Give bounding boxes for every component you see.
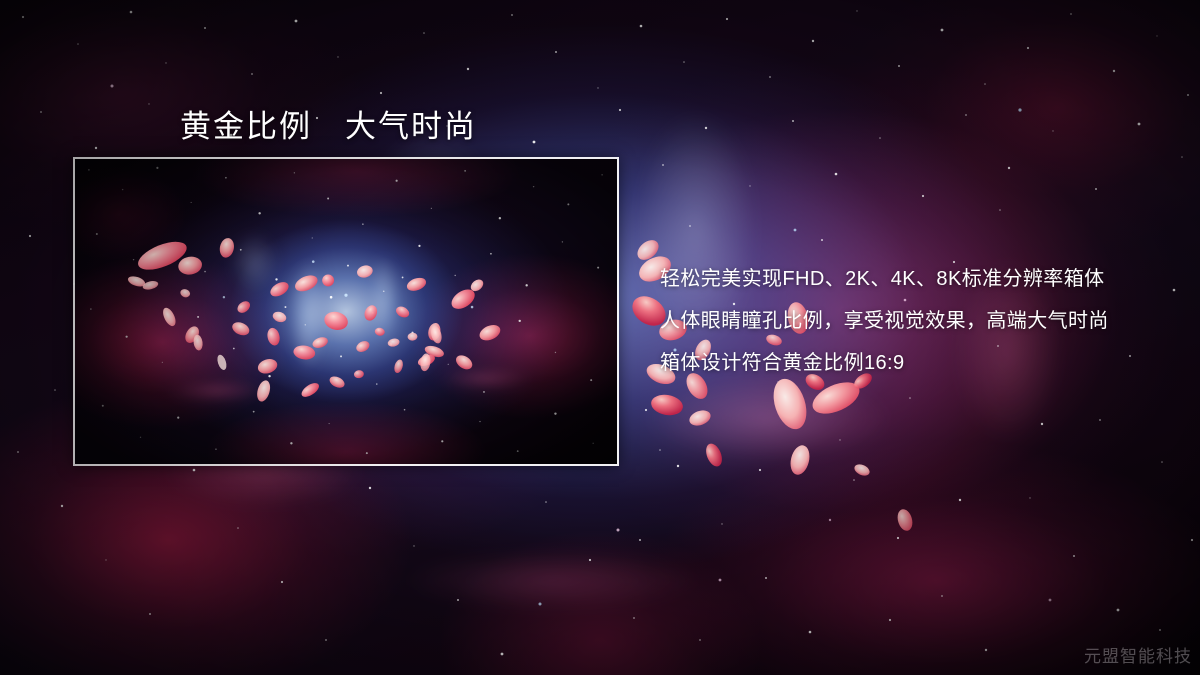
body-copy: 轻松完美实现FHD、2K、4K、8K标准分辨率箱体 人体眼睛瞳孔比例，享受视觉效… (660, 258, 1180, 384)
body-line-1: 轻松完美实现FHD、2K、4K、8K标准分辨率箱体 (660, 258, 1180, 300)
inner-vignette (75, 159, 617, 464)
watermark: 元盟智能科技 (1084, 642, 1192, 667)
page-title: 黄金比例 大气时尚 (180, 101, 477, 146)
body-line-3: 箱体设计符合黄金比例16:9 (660, 342, 1180, 384)
slide-canvas: 黄金比例 大气时尚 轻松完美实现FHD、2K、4K、8K标准分辨率箱体 人体眼睛… (0, 0, 1200, 675)
framed-image-content (75, 159, 617, 464)
framed-image (73, 157, 619, 466)
body-line-2: 人体眼睛瞳孔比例，享受视觉效果，高端大气时尚 (660, 300, 1180, 342)
